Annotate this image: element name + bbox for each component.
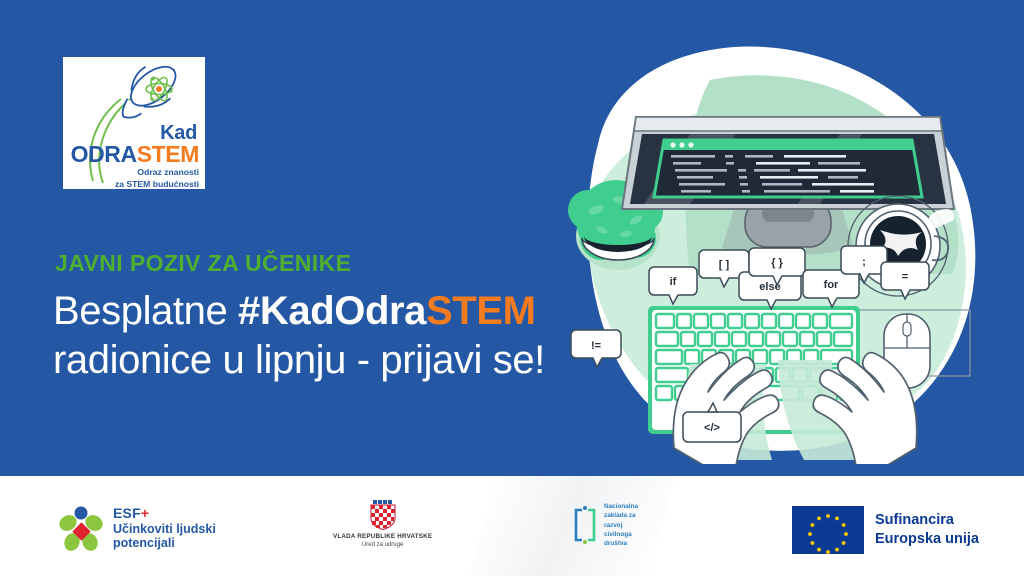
kicker-text: JAVNI POZIV ZA UČENIKE (55, 250, 351, 277)
logo-odra-part: ODRA (71, 141, 137, 167)
nz-line1: Nacionalna (604, 502, 638, 511)
nz-line4: civilnoga (604, 530, 638, 539)
eu-line1: Sufinancira (875, 511, 979, 530)
nz-line5: društva (604, 539, 638, 548)
footer-logo-bar: ESF+ Učinkoviti ljudski potencijali (0, 476, 1024, 576)
bubble-text-notequal: != (591, 340, 601, 352)
promo-banner: if [ ] else { } for ; (0, 0, 1024, 576)
esf-sub-line2: potencijali (113, 536, 216, 551)
headline-stem: STEM (426, 289, 536, 333)
nacionalna-zaklada-logo[interactable]: Nacionalna zaklada za razvoj civilnoga d… (572, 502, 638, 548)
logo-stem-part: STEM (137, 141, 199, 167)
logo-line-odrastem: ODRASTEM (63, 143, 199, 166)
esf-title: ESF+ (113, 505, 216, 521)
nz-line2: zaklada za (604, 511, 638, 520)
bubble-text-equals: = (902, 271, 908, 283)
esf-text-block: ESF+ Učinkoviti ljudski potencijali (113, 505, 216, 550)
esf-plus-logo[interactable]: ESF+ Učinkoviti ljudski potencijali (58, 504, 216, 552)
bubble-text-if: if (670, 276, 677, 288)
esf-title-main: ESF (113, 505, 141, 521)
headline-hashtag: #KadOdra (238, 289, 426, 333)
bubble-text-semicolon: ; (862, 256, 866, 268)
code-bubble-notequal: != (571, 330, 621, 367)
bubble-text-braces: { } (771, 257, 783, 269)
headline-line2: radionice u lipnju - prijavi se! (53, 338, 545, 382)
logo-tagline: Odraz znanosti za STEM budućnosti (63, 167, 199, 190)
logo-tagline-line2: za STEM budućnosti (63, 179, 199, 191)
croatian-coat-of-arms-icon (370, 500, 396, 530)
vlada-line2: Ured za udruge (362, 542, 403, 548)
eu-flag-icon (792, 506, 864, 554)
vlada-republike-hrvatske-logo[interactable]: VLADA REPUBLIKE HRVATSKE Ured za udruge (333, 500, 432, 548)
kad-odrastem-logo[interactable]: Kad ODRASTEM Odraz znanosti za STEM budu… (63, 57, 205, 189)
esf-sub-line1: Učinkoviti ljudski (113, 522, 216, 537)
logo-line-kad: Kad (63, 123, 197, 143)
eu-text-block: Sufinancira Europska unija (875, 511, 979, 549)
brackets-icon (572, 504, 598, 546)
esf-title-plus: + (141, 505, 149, 521)
bubble-text-codetag: </> (704, 422, 720, 434)
bubble-text-for: for (824, 279, 839, 291)
headline-text: Besplatne #KadOdraSTEM radionice u lipnj… (53, 287, 573, 385)
coding-desk-illustration: if [ ] else { } for ; (540, 24, 1010, 464)
nz-text-block: Nacionalna zaklada za razvoj civilnoga d… (604, 502, 638, 548)
esf-flower-icon (58, 504, 104, 552)
headline-plain: Besplatne (53, 289, 238, 333)
bubble-text-brackets: [ ] (719, 259, 730, 271)
vlada-line1: VLADA REPUBLIKE HRVATSKE (333, 533, 432, 540)
nz-line3: razvoj (604, 521, 638, 530)
logo-tagline-line1: Odraz znanosti (63, 167, 199, 179)
eu-line2: Europska unija (875, 530, 979, 549)
european-union-logo[interactable]: Sufinancira Europska unija (792, 506, 979, 554)
